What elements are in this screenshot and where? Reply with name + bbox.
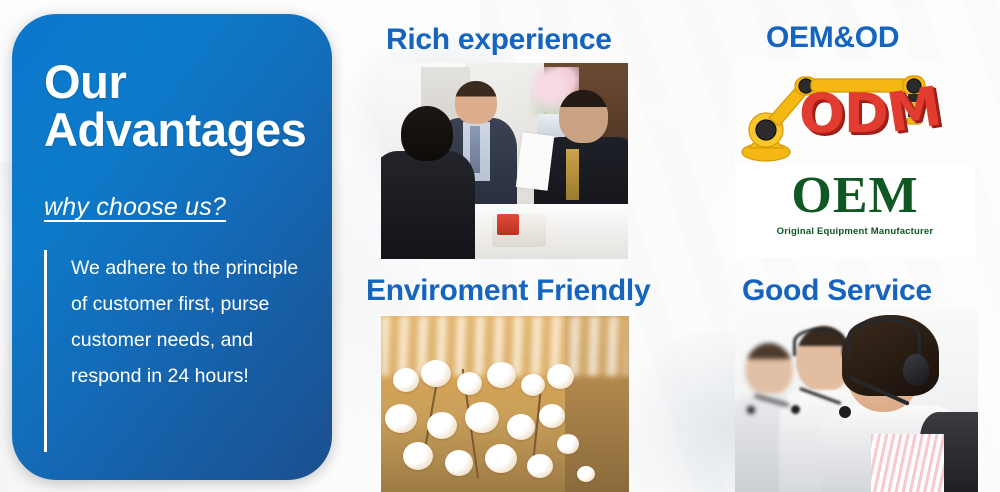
our-advantages-panel: Our Advantages why choose us? We adhere …: [12, 14, 332, 480]
oem-odm-logo: ODM OEM Original Equipment Manufacturer: [735, 60, 975, 258]
heading-oem-odm: OEM&OD: [766, 21, 899, 55]
advantages-banner: Our Advantages why choose us? We adhere …: [0, 0, 1000, 492]
oem-wordmark: OEM: [735, 166, 975, 226]
business-meeting-photo: [381, 63, 628, 259]
heading-good-service: Good Service: [742, 274, 932, 308]
oem-caption: Original Equipment Manufacturer: [735, 226, 975, 237]
panel-body-text: We adhere to the principle of customer f…: [71, 250, 306, 452]
panel-title-line2: Advantages: [44, 106, 306, 154]
odm-wordmark: ODM: [799, 82, 940, 145]
call-center-photo: [735, 310, 978, 492]
cotton-field-photo: [381, 316, 629, 492]
heading-enviroment-friendly: Enviroment Friendly: [366, 274, 650, 308]
panel-body-wrapper: We adhere to the principle of customer f…: [44, 250, 306, 452]
panel-subtitle: why choose us?: [44, 193, 306, 222]
heading-rich-experience: Rich experience: [386, 23, 612, 57]
panel-title: Our Advantages: [44, 58, 306, 155]
vertical-accent-rule: [44, 250, 47, 452]
headset-icon: [847, 318, 921, 358]
panel-title-line1: Our: [44, 58, 306, 106]
